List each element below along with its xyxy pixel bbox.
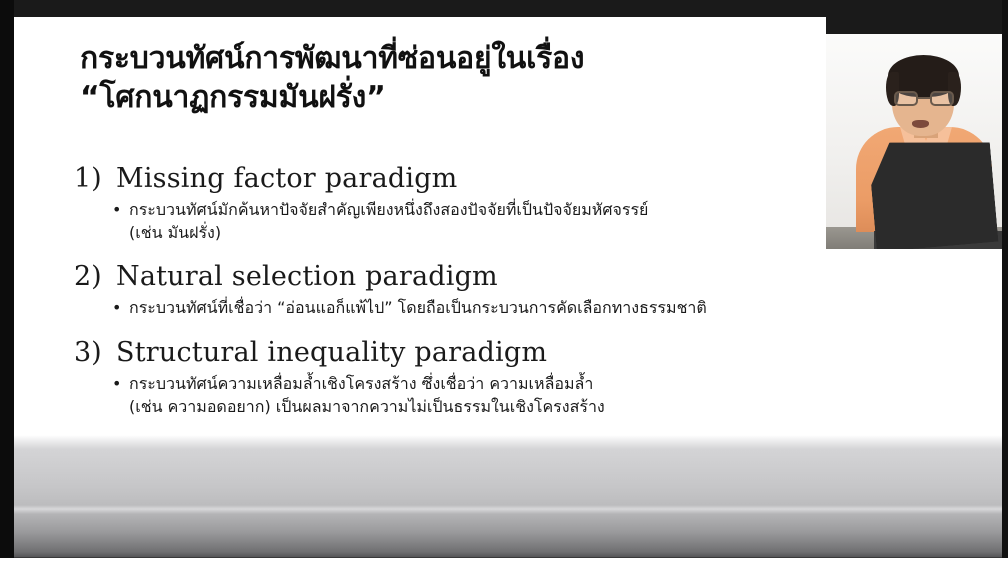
presentation-slide: กระบวนทัศน์การพัฒนาที่ซ่อนอยู่ในเรื่อง “… — [14, 17, 1002, 558]
spacer — [74, 247, 954, 258]
paradigm-heading-2: 2) Natural selection paradigm — [74, 258, 954, 296]
item-bullet-text-2: กระบวนทัศน์ที่เชื่อว่า “อ่อนแอก็แพ้ไป” โ… — [129, 298, 707, 317]
item-number-2: 2) — [74, 258, 116, 296]
glasses-icon — [894, 91, 954, 106]
item-bullet-2: • กระบวนทัศน์ที่เชื่อว่า “อ่อนแอก็แพ้ไป”… — [74, 296, 954, 319]
list-item: 3) Structural inequality paradigm • กระบ… — [74, 334, 954, 418]
bullet-dot-icon: • — [112, 372, 121, 395]
bullet-dot-icon: • — [112, 198, 121, 221]
item-bullet-cont-1: (เช่น มันฝรั่ง) — [74, 221, 954, 244]
glasses-lens-right — [930, 91, 954, 106]
bullet-dot-icon: • — [112, 296, 121, 319]
list-item: 1) Missing factor paradigm • กระบวนทัศน์… — [74, 160, 954, 244]
video-top-strip — [826, 17, 1002, 34]
frame-top-bar — [0, 0, 1008, 17]
slide-title-line-1: กระบวนทัศน์การพัฒนาที่ซ่อนอยู่ในเรื่อง — [80, 39, 780, 78]
slide-title: กระบวนทัศน์การพัฒนาที่ซ่อนอยู่ในเรื่อง “… — [80, 39, 780, 117]
item-title-1: Missing factor paradigm — [116, 160, 457, 198]
item-bullet-3: • กระบวนทัศน์ความเหลื่อมล้ำเชิงโครงสร้าง… — [74, 372, 954, 395]
slide-title-line-2: “โศกนาฏกรรมมันฝรั่ง” — [80, 78, 780, 117]
item-bullet-text-3: กระบวนทัศน์ความเหลื่อมล้ำเชิงโครงสร้าง ซ… — [129, 374, 593, 393]
presenter-mouth — [912, 120, 929, 128]
item-title-3: Structural inequality paradigm — [116, 334, 547, 372]
frame-left-bar — [0, 0, 14, 560]
laptop-screen — [868, 134, 999, 249]
item-bullet-text-1: กระบวนทัศน์มักค้นหาปัจจัยสำคัญเพียงหนึ่ง… — [129, 200, 648, 219]
slide-viewer: กระบวนทัศน์การพัฒนาที่ซ่อนอยู่ในเรื่อง “… — [0, 0, 1008, 572]
frame-right-bar — [1002, 0, 1008, 560]
frame-bottom-bar — [0, 558, 1008, 572]
spacer — [74, 322, 954, 334]
paradigm-list: 1) Missing factor paradigm • กระบวนทัศน์… — [74, 160, 954, 421]
item-bullet-cont-3: (เช่น ความอดอยาก) เป็นผลมาจากความไม่เป็น… — [74, 395, 954, 418]
item-number-1: 1) — [74, 160, 116, 198]
paradigm-heading-1: 1) Missing factor paradigm — [74, 160, 954, 198]
item-title-2: Natural selection paradigm — [116, 258, 498, 296]
paradigm-heading-3: 3) Structural inequality paradigm — [74, 334, 954, 372]
item-bullet-1: • กระบวนทัศน์มักค้นหาปัจจัยสำคัญเพียงหนึ… — [74, 198, 954, 221]
item-number-3: 3) — [74, 334, 116, 372]
list-item: 2) Natural selection paradigm • กระบวนทั… — [74, 258, 954, 319]
presenter-video-overlay — [826, 17, 1002, 249]
glasses-bridge — [918, 97, 930, 99]
glasses-lens-left — [894, 91, 918, 106]
